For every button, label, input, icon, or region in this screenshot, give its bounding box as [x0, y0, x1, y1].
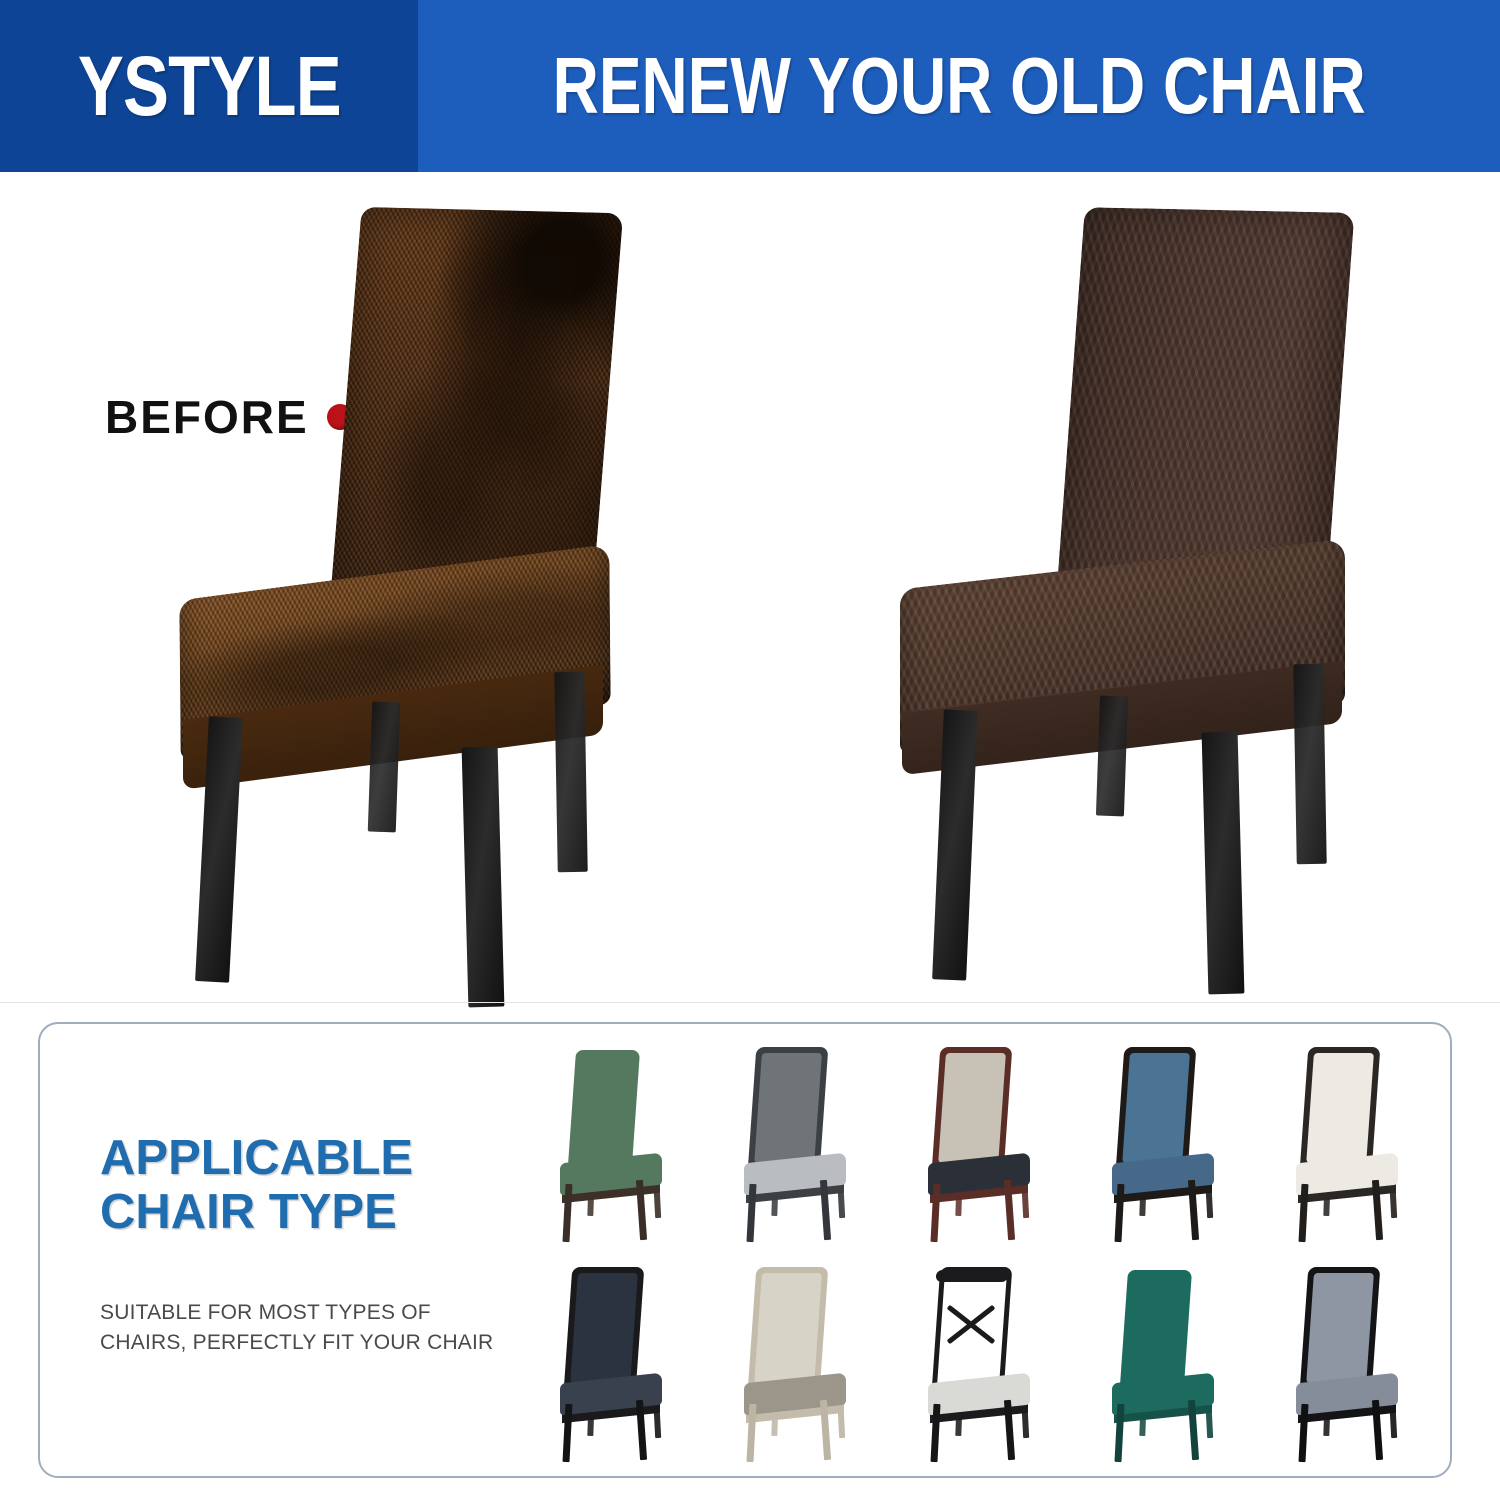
- chair-thumb-back-frame: [932, 1047, 1013, 1171]
- chair-type-thumb-blue-upholstered-wood-frame-chair: [1072, 1034, 1256, 1254]
- section-separator: [0, 1002, 1500, 1003]
- chair-thumb-back-panel: [1306, 1273, 1374, 1383]
- chair-thumb-figure: [736, 1050, 856, 1246]
- before-chair-leg-front-right: [462, 747, 505, 1008]
- chair-type-thumb-navy-leather-classic-chair: [520, 1254, 704, 1474]
- chair-thumb-back-frame: [1300, 1267, 1381, 1391]
- applicable-title: APPLICABLE CHAIR TYPE: [100, 1132, 530, 1240]
- before-tag: BEFORE: [105, 394, 353, 440]
- applicable-text-block: APPLICABLE CHAIR TYPE SUITABLE FOR MOST …: [100, 1132, 530, 1359]
- chair-thumb-backrest: [568, 1050, 640, 1166]
- chair-thumb-figure: [1104, 1270, 1224, 1466]
- after-chair-leg-back-right: [1293, 664, 1326, 864]
- chair-thumb-back-panel: [938, 1053, 1006, 1163]
- applicable-title-line2: CHAIR TYPE: [100, 1186, 530, 1240]
- applicable-title-line1: APPLICABLE: [100, 1131, 413, 1185]
- chair-type-thumb-dark-wood-frame-light-panel-chair: [888, 1034, 1072, 1254]
- applicable-chair-type-box: APPLICABLE CHAIR TYPE SUITABLE FOR MOST …: [38, 1022, 1452, 1478]
- chair-thumb-back-panel: [754, 1273, 822, 1383]
- after-chair-leg-back-left: [1096, 696, 1128, 817]
- tagline-block: RENEW YOUR OLD CHAIR: [418, 0, 1500, 172]
- chair-type-thumb-black-cross-back-chair: [888, 1254, 1072, 1474]
- after-pane: AFTER: [750, 172, 1500, 1002]
- chair-thumb-back-frame: [748, 1267, 829, 1391]
- chair-thumb-back-frame: [564, 1267, 645, 1391]
- chair-thumb-figure: [1288, 1050, 1408, 1246]
- chair-type-thumb-grey-padded-panel-back-chair: [704, 1034, 888, 1254]
- page-header: YSTYLE RENEW YOUR OLD CHAIR: [0, 0, 1500, 172]
- chair-thumb-back-panel: [1306, 1053, 1374, 1163]
- applicable-subtitle-line1: SUITABLE FOR MOST TYPES OF: [100, 1301, 431, 1324]
- chair-thumb-back-frame: [1116, 1047, 1197, 1171]
- chair-thumb-back-frame: [748, 1047, 829, 1171]
- after-chair-leg-front-right: [1202, 732, 1245, 995]
- before-chair-leg-back-left: [368, 702, 401, 833]
- chair-thumb-back-panel: [1122, 1053, 1190, 1163]
- chair-thumb-figure: [552, 1050, 672, 1246]
- chair-thumb-figure: [920, 1050, 1040, 1246]
- chair-type-thumbnail-grid: [520, 1034, 1440, 1474]
- chair-type-thumb-slate-grey-wingback-dining-chair: [1256, 1254, 1440, 1474]
- brand-block: YSTYLE: [0, 0, 418, 172]
- applicable-subtitle-line2: CHAIRS, PERFECTLY FIT YOUR CHAIR: [100, 1328, 530, 1358]
- chair-type-thumb-beige-painted-frame-chair: [704, 1254, 888, 1474]
- chair-thumb-figure: [1288, 1270, 1408, 1466]
- chair-thumb-figure: [1104, 1050, 1224, 1246]
- chair-thumb-figure: [552, 1270, 672, 1466]
- brand-name: YSTYLE: [77, 44, 340, 128]
- chair-thumb-back-panel: [754, 1053, 822, 1163]
- chair-type-thumb-green-upholstered-tall-back-chair: [520, 1034, 704, 1254]
- applicable-subtitle: SUITABLE FOR MOST TYPES OF CHAIRS, PERFE…: [100, 1298, 530, 1359]
- chair-thumb-back-frame: [1300, 1047, 1381, 1171]
- chair-thumb-figure: [920, 1270, 1040, 1466]
- chair-type-thumb-cream-upholstered-dark-leg-chair: [1256, 1034, 1440, 1254]
- before-label: BEFORE: [105, 394, 309, 440]
- chair-thumb-back-panel: [570, 1273, 638, 1383]
- chair-thumb-figure: [736, 1270, 856, 1466]
- before-chair-leg-back-right: [554, 672, 587, 872]
- chair-type-thumb-emerald-velvet-tall-back-chair: [1072, 1254, 1256, 1474]
- before-after-comparison: BEFORE AFTER: [0, 172, 1500, 1002]
- chair-thumb-backrest: [1120, 1270, 1192, 1386]
- tagline-text: RENEW YOUR OLD CHAIR: [552, 46, 1365, 126]
- chair-thumb-top-rail: [936, 1270, 1009, 1282]
- before-pane: BEFORE: [0, 172, 750, 1002]
